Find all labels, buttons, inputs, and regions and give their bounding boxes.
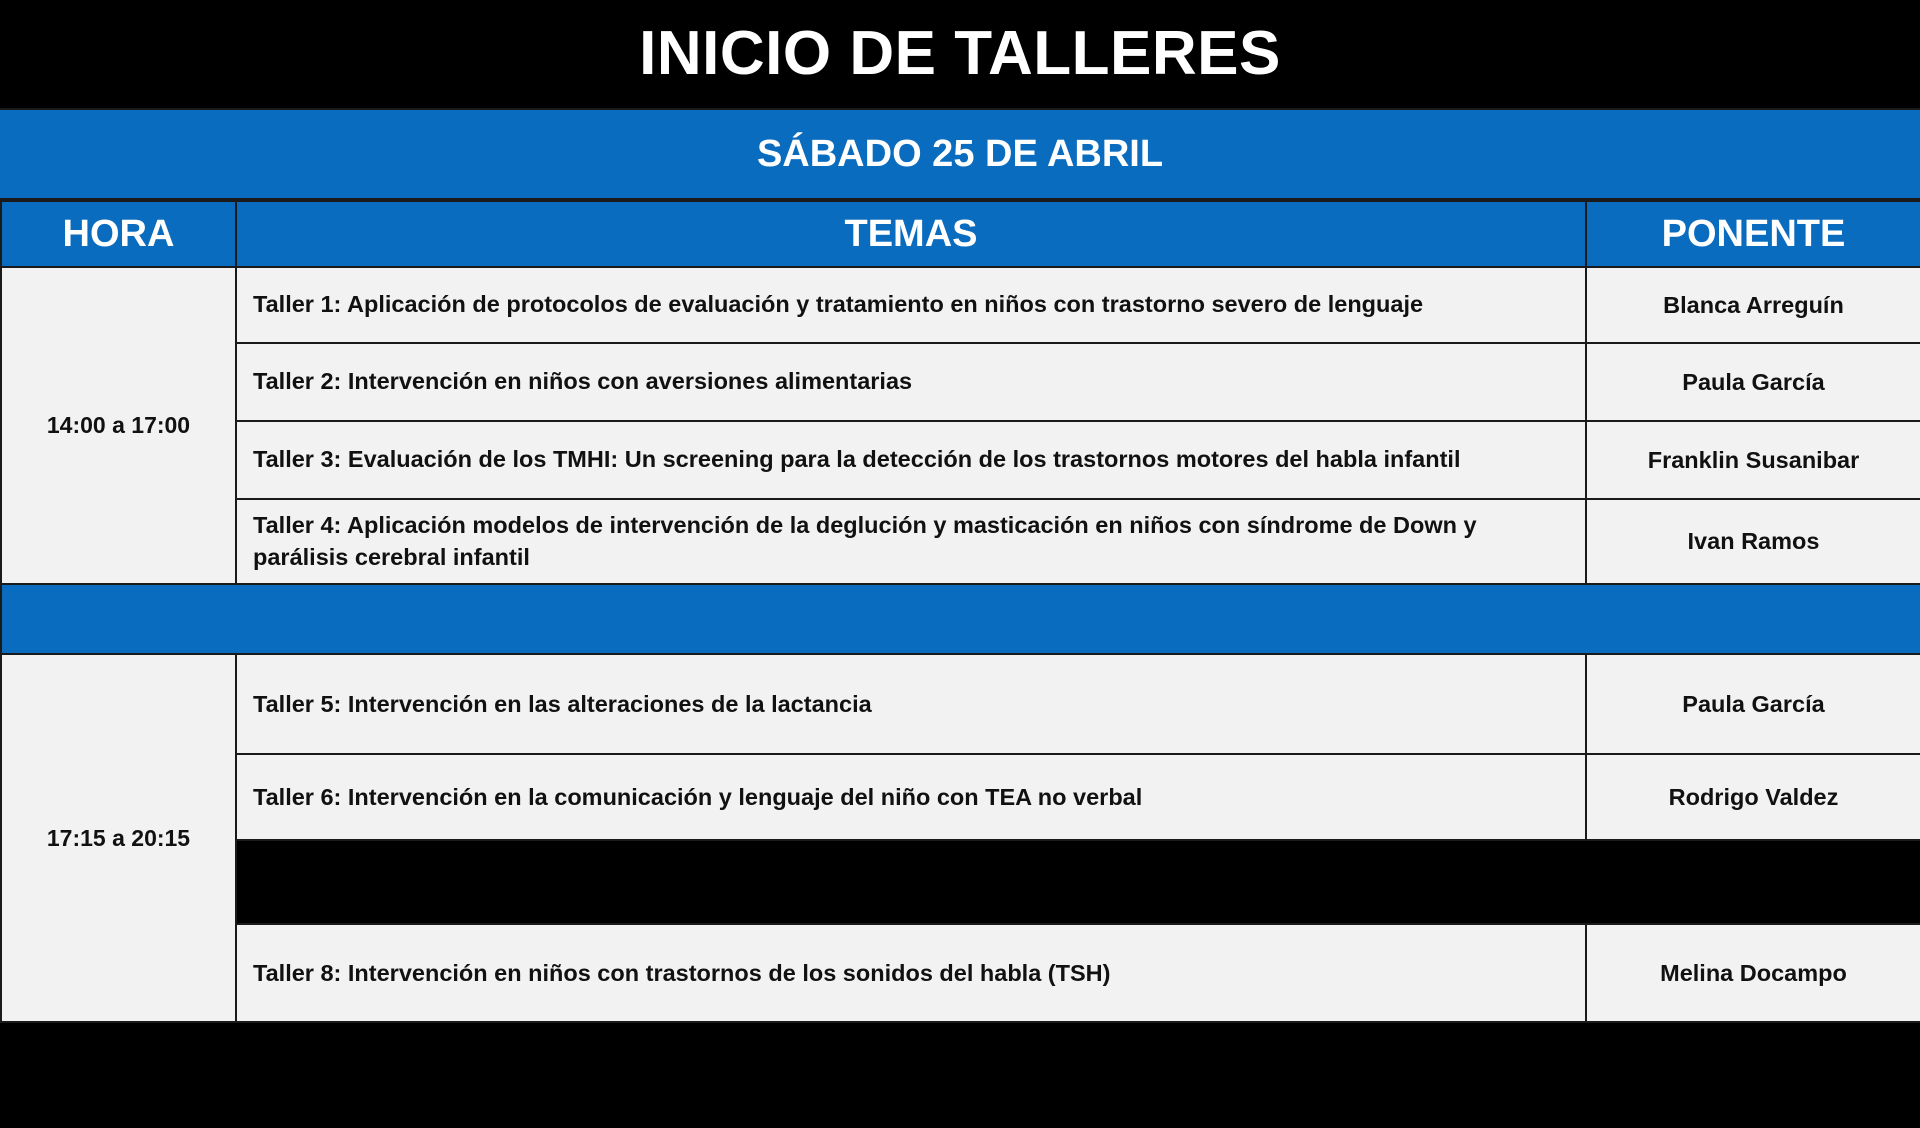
redacted-speaker-cell — [1586, 840, 1920, 924]
speaker-cell: Melina Docampo — [1586, 924, 1920, 1022]
table-header-row: HORA TEMAS PONENTE — [1, 201, 1920, 267]
table-row: Taller 3: Evaluación de los TMHI: Un scr… — [1, 421, 1920, 499]
poster-title-band: INICIO DE TALLERES — [0, 0, 1920, 108]
speaker-cell: Paula García — [1586, 343, 1920, 421]
workshop-topic-cell: Taller 1: Aplicación de protocolos de ev… — [236, 267, 1586, 343]
workshop-schedule-poster: INICIO DE TALLERES SÁBADO 25 DE ABRIL HO… — [0, 0, 1920, 1128]
poster-date-band: SÁBADO 25 DE ABRIL — [0, 108, 1920, 200]
table-row: Taller 4: Aplicación modelos de interven… — [1, 499, 1920, 584]
column-header-hora: HORA — [1, 201, 236, 267]
page-title: INICIO DE TALLERES — [639, 23, 1281, 85]
blue-separator-band — [1, 584, 1920, 654]
section-separator-row — [1, 584, 1920, 654]
table-row: Taller 2: Intervención en niños con aver… — [1, 343, 1920, 421]
speaker-cell: Ivan Ramos — [1586, 499, 1920, 584]
time-slot-cell: 14:00 a 17:00 — [1, 267, 236, 584]
speaker-cell: Paula García — [1586, 654, 1920, 754]
workshop-topic-cell: Taller 5: Intervención en las alteracion… — [236, 654, 1586, 754]
date-heading: SÁBADO 25 DE ABRIL — [757, 135, 1163, 173]
speaker-cell: Blanca Arreguín — [1586, 267, 1920, 343]
table-row: Taller 6: Intervención en la comunicació… — [1, 754, 1920, 840]
speaker-cell: Rodrigo Valdez — [1586, 754, 1920, 840]
speaker-cell: Franklin Susanibar — [1586, 421, 1920, 499]
column-header-temas: TEMAS — [236, 201, 1586, 267]
workshop-topic-cell: Taller 6: Intervención en la comunicació… — [236, 754, 1586, 840]
table-row: 14:00 a 17:00 Taller 1: Aplicación de pr… — [1, 267, 1920, 343]
redacted-topic-cell — [236, 840, 1586, 924]
column-header-ponente: PONENTE — [1586, 201, 1920, 267]
workshop-topic-cell: Taller 8: Intervención en niños con tras… — [236, 924, 1586, 1022]
workshop-topic-cell: Taller 3: Evaluación de los TMHI: Un scr… — [236, 421, 1586, 499]
table-row-redacted — [1, 840, 1920, 924]
schedule-table: HORA TEMAS PONENTE 14:00 a 17:00 Taller … — [0, 200, 1920, 1023]
time-slot-cell: 17:15 a 20:15 — [1, 654, 236, 1022]
workshop-topic-cell: Taller 2: Intervención en niños con aver… — [236, 343, 1586, 421]
table-row: 17:15 a 20:15 Taller 5: Intervención en … — [1, 654, 1920, 754]
workshop-topic-cell: Taller 4: Aplicación modelos de interven… — [236, 499, 1586, 584]
table-row: Taller 8: Intervención en niños con tras… — [1, 924, 1920, 1022]
